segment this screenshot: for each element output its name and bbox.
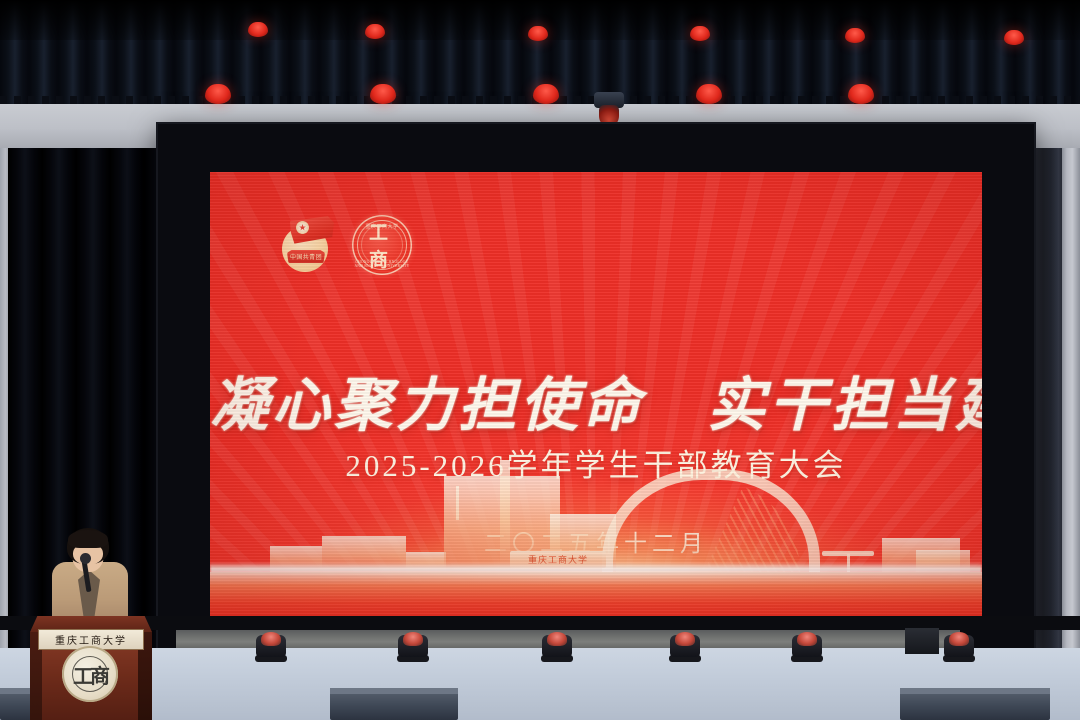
seal-bottom-text: CHONGQING TECHNOLOGY AND BUSINESS UNIVER…	[352, 260, 412, 268]
stage-riser	[900, 688, 1050, 720]
emblem-star-icon	[296, 221, 309, 234]
university-seal-emblem: 重庆工商大学 工商 CHONGQING TECHNOLOGY AND BUSIN…	[352, 215, 412, 275]
microphone-head-icon	[80, 553, 91, 564]
light-lens	[949, 632, 969, 646]
skyline-building	[500, 460, 510, 572]
stage-moving-head-light	[253, 628, 289, 662]
riser-top	[900, 688, 1050, 694]
stage-moving-head-light	[395, 628, 431, 662]
light-lens	[547, 632, 567, 646]
hanging-light	[533, 84, 559, 104]
speaker-hair-fringe	[68, 530, 108, 548]
stage-speaker-box	[905, 628, 939, 654]
podium-seal-emblem: 工商	[62, 646, 118, 702]
stage-moving-head-light	[941, 628, 977, 662]
led-skyline-graphic: 重庆工商大学	[210, 470, 982, 620]
communist-youth-league-emblem: 中国共青团	[276, 214, 338, 276]
hanging-light	[848, 84, 874, 104]
stage-moving-head-light	[539, 628, 575, 662]
led-display: 中国共青团 重庆工商大学 工商 CHONGQING TECHNOLOGY AND…	[210, 172, 982, 620]
stage-riser	[330, 688, 458, 720]
hanging-light	[528, 26, 548, 41]
hanging-light	[845, 28, 865, 43]
led-screen-bezel: 中国共青团 重庆工商大学 工商 CHONGQING TECHNOLOGY AND…	[158, 124, 1034, 648]
led-headline: 凝心聚力担使命 实干担当建新功	[210, 358, 982, 442]
emblem-group: 中国共青团 重庆工商大学 工商 CHONGQING TECHNOLOGY AND…	[276, 214, 412, 276]
hanging-light	[370, 84, 396, 104]
light-lens	[403, 632, 423, 646]
emblem-banner-text: 中国共青团	[287, 250, 325, 263]
riser-top	[330, 688, 458, 694]
headline-part-1: 凝心聚力担使命	[210, 358, 644, 442]
podium-seal-monogram: 工商	[72, 656, 108, 692]
hanging-light	[248, 22, 268, 37]
stage-scene: 中国共青团 重庆工商大学 工商 CHONGQING TECHNOLOGY AND…	[0, 0, 1080, 720]
stage-moving-head-light	[667, 628, 703, 662]
light-lens	[797, 632, 817, 646]
headline-part-2: 实干担当建新功	[707, 358, 982, 442]
stage-moving-head-light	[789, 628, 825, 662]
hanging-light	[690, 26, 710, 41]
light-lens	[675, 632, 695, 646]
hanging-light	[365, 24, 385, 39]
hanging-light	[696, 84, 722, 104]
hanging-light	[205, 84, 231, 104]
emblem-banner: 中国共青团	[287, 250, 325, 263]
seal-monogram: 工商	[369, 232, 395, 258]
skyline-base	[210, 572, 982, 620]
hanging-light	[1004, 30, 1024, 45]
light-lens	[261, 632, 281, 646]
podium-group: 重庆工商大学 工商	[16, 480, 176, 720]
